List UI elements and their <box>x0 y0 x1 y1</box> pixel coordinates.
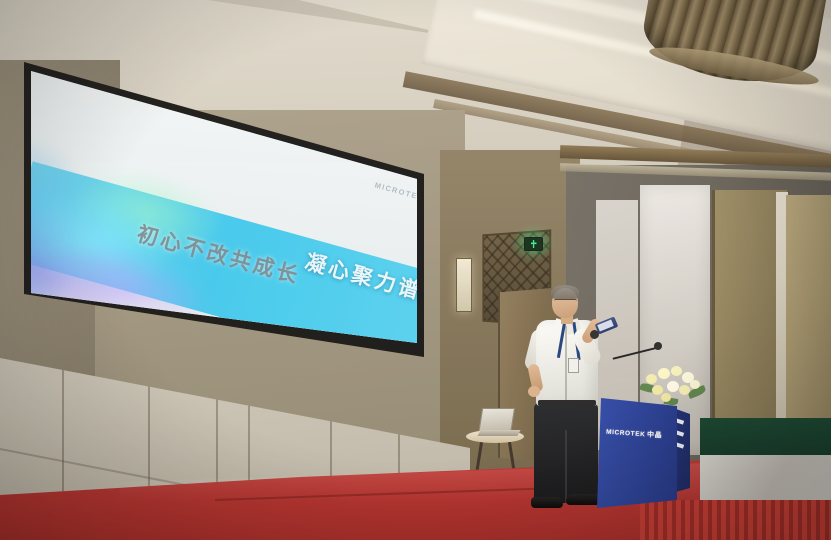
flower-bloom <box>658 368 670 379</box>
speaker-trouser-seam <box>565 430 567 504</box>
flower-bloom <box>679 385 690 395</box>
running-man-icon <box>531 240 537 248</box>
speaker-badge <box>568 358 579 373</box>
flower-bloom <box>667 381 679 392</box>
speaker-belt <box>538 400 596 406</box>
speaker-shirt-placket <box>565 326 567 404</box>
speaker-left-hand <box>528 386 540 397</box>
speaker-shoe <box>531 497 563 508</box>
speaker-shoe <box>566 494 600 505</box>
flower-bloom <box>671 366 682 376</box>
speaker-hair <box>551 285 579 299</box>
laptop-keyboard[interactable] <box>477 430 520 436</box>
flower-arrangement <box>638 362 708 408</box>
podium-brand-cn: 中晶 <box>647 429 663 440</box>
podium-microphone-head <box>654 342 662 350</box>
speaker-glasses <box>554 299 577 306</box>
wall-sconce-light <box>456 258 472 312</box>
flower-bloom <box>690 380 700 389</box>
flower-bloom <box>646 374 657 384</box>
stage-skirt <box>640 500 831 540</box>
podium <box>597 398 677 508</box>
exit-sign <box>524 237 543 251</box>
conference-photo: MICROTEK 初心不改共成长 凝心聚力谱新篇 上海中晶科技 林名臣 总经理 <box>0 0 831 540</box>
flower-bloom <box>661 393 671 402</box>
